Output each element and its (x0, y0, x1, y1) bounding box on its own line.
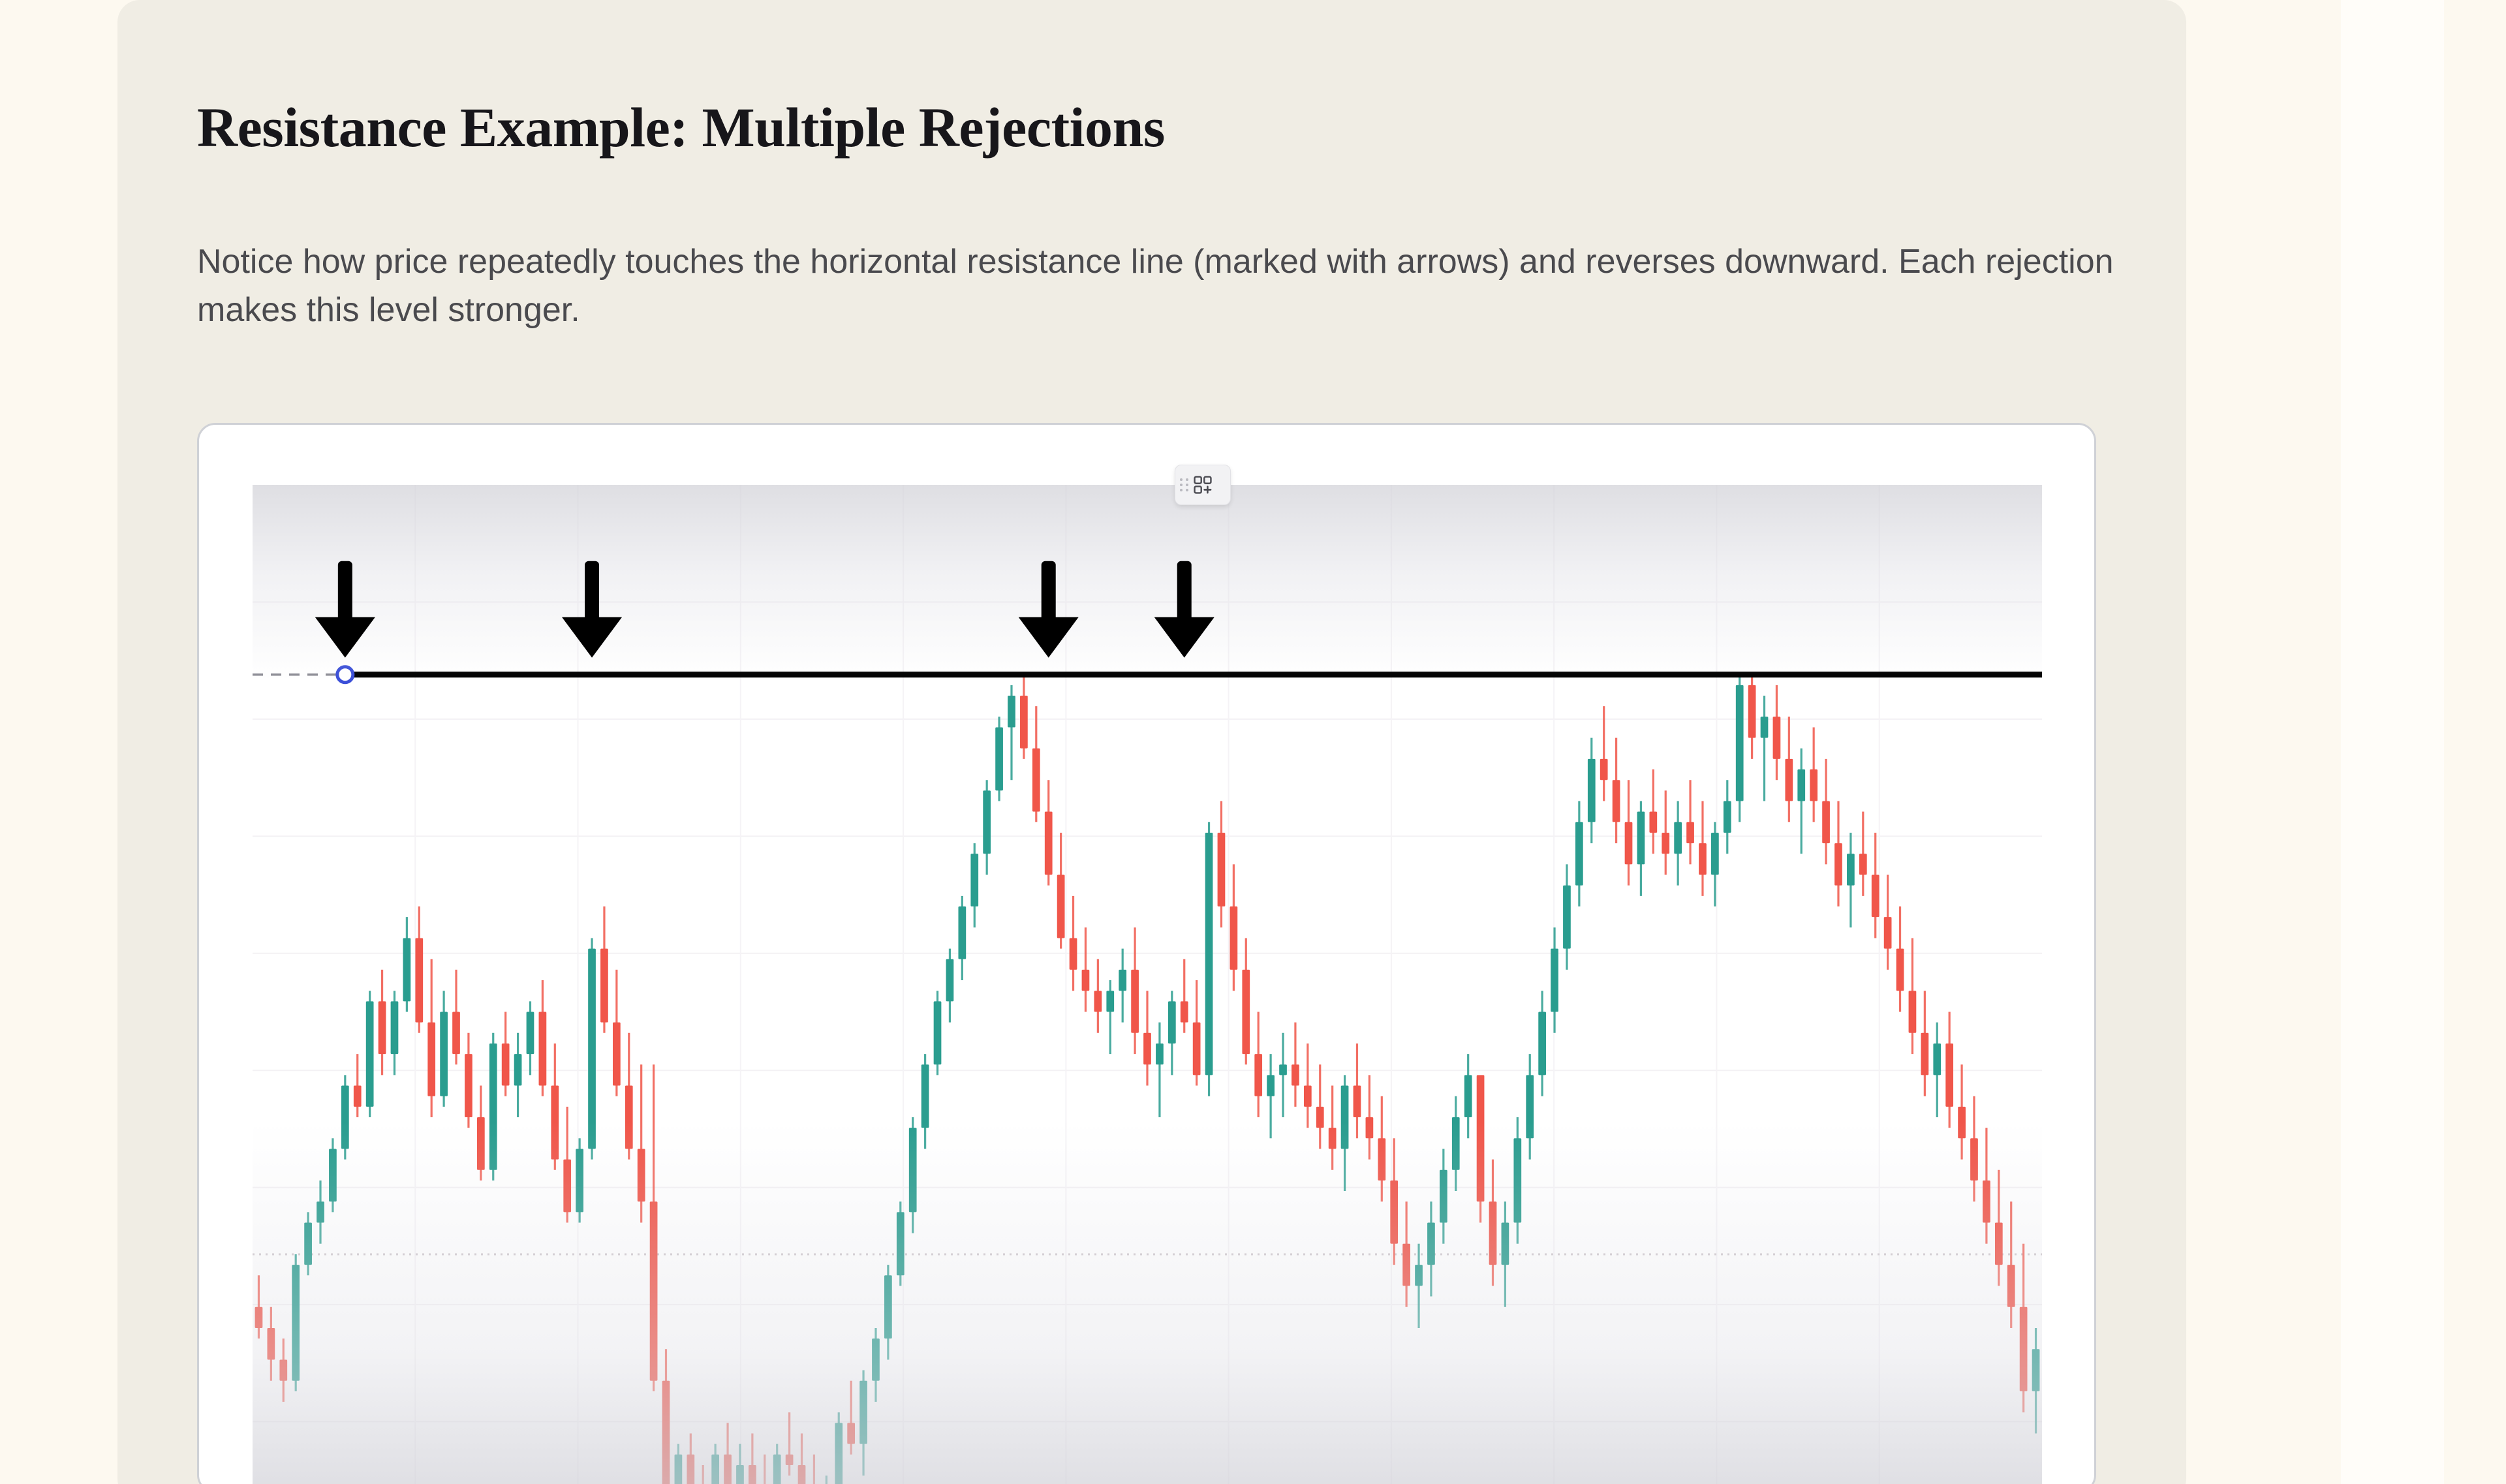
add-widget-icon[interactable] (1192, 474, 1214, 496)
page-root: Resistance Example: Multiple Rejections … (0, 0, 2506, 1484)
lesson-description: Notice how price repeatedly touches the … (197, 238, 2122, 335)
chart-container[interactable] (197, 423, 2096, 1484)
candlestick-plot-area[interactable] (253, 485, 2042, 1484)
lesson-card: Resistance Example: Multiple Rejections … (117, 0, 2186, 1484)
page-title: Resistance Example: Multiple Rejections (197, 98, 1165, 157)
drag-handle-icon[interactable] (1180, 478, 1188, 491)
chart-floating-toolbar[interactable] (1175, 465, 1231, 505)
scroll-track[interactable] (2341, 0, 2444, 1484)
candlestick-chart[interactable] (253, 485, 2042, 1484)
